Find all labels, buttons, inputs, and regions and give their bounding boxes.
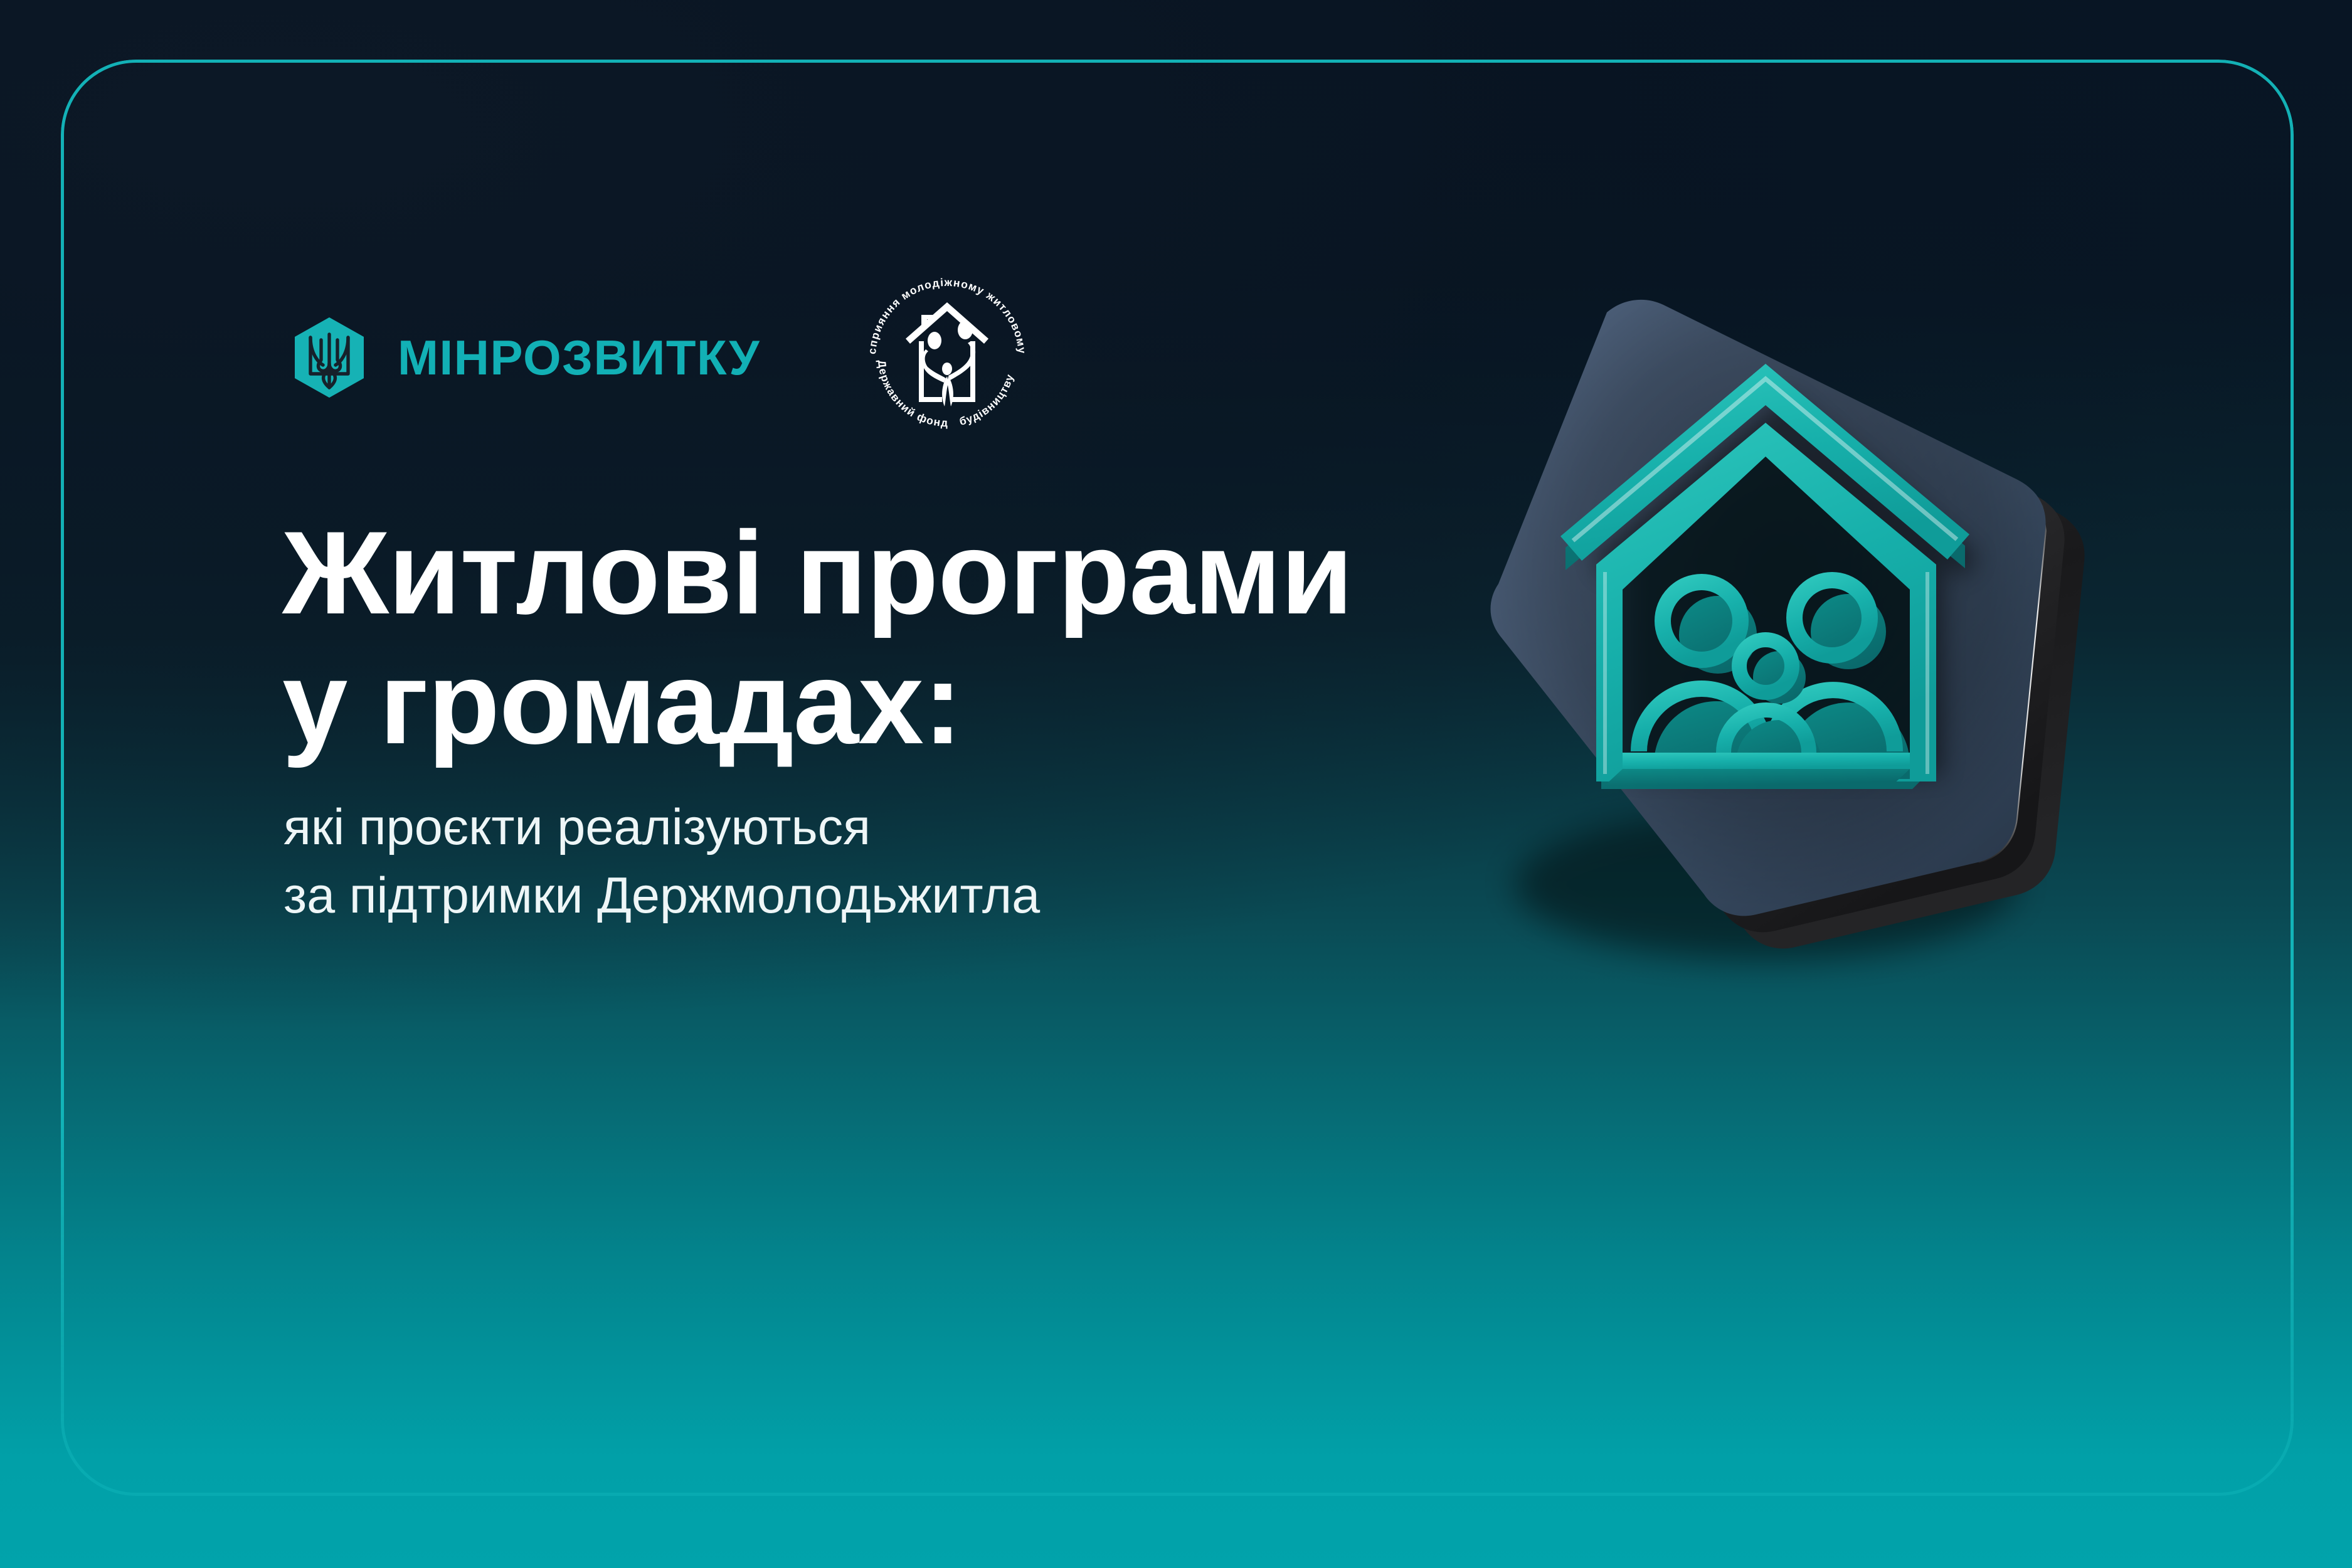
floor-bar	[1623, 753, 1910, 769]
hexagon-badge	[1389, 251, 2104, 953]
ministry-wordmark: МІНРОЗВИТКУ	[398, 333, 760, 382]
ukrainian-trident-emblem-icon	[295, 317, 364, 398]
hero-title: Житлові програми у громадах:	[282, 508, 1443, 768]
house-with-family-emblem-icon	[906, 302, 988, 406]
hero-title-line-1: Житлові програми	[282, 508, 1443, 638]
hero-subtitle-line-2: за підтримки Держмолодьжитла	[283, 862, 1475, 930]
floor-bar-extrusion	[1605, 769, 1910, 785]
fund-logo[interactable]: сприяння молодіжному житловому Державний…	[853, 263, 1041, 452]
slide-canvas: МІНРОЗВИТКУ сприяння молодіжному житлово…	[0, 0, 2352, 1568]
logo-row: МІНРОЗВИТКУ сприяння молодіжному житлово…	[295, 263, 1041, 452]
hero-subtitle: які проєкти реалізуються за підтримки Де…	[283, 793, 1475, 930]
house-with-family-3d-icon	[1389, 251, 2104, 953]
hero-subtitle-line-1: які проєкти реалізуються	[283, 793, 1475, 862]
ministry-logo[interactable]: МІНРОЗВИТКУ	[295, 317, 760, 398]
hero-title-line-2: у громадах:	[282, 638, 1443, 768]
fund-circular-text-top: сприяння молодіжному житловому	[866, 276, 1029, 355]
fund-circular-text-bottom-left: Державний фонд	[876, 359, 949, 429]
